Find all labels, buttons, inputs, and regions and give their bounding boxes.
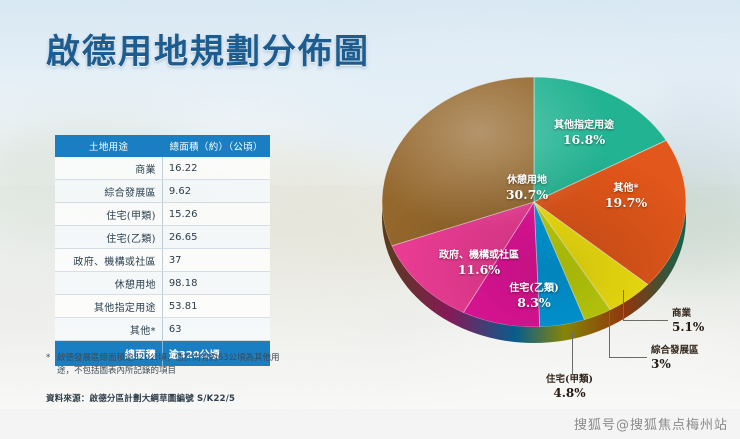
cell-area: 16.22 [162, 157, 270, 180]
cell-area: 37 [162, 249, 270, 272]
table-footnote: * 啟德發展區總面積逾320公頃，估計尚有約63公頃為其他用途，不包括圖表內所記… [46, 352, 296, 378]
table-row: 政府、機構或社區37 [55, 249, 270, 272]
leader-line-cda-v [609, 310, 610, 357]
table-row: 商業16.22 [55, 157, 270, 180]
out-label-commercial: 商業 5.1% [672, 308, 704, 335]
cell-land-use: 政府、機構或社區 [55, 249, 162, 272]
table-header-row: 土地用途 總面積（約）（公頃） [55, 135, 270, 157]
cell-land-use: 休憩用地 [55, 272, 162, 295]
slice-label-other-specified: 其他指定用途 16.8% [524, 120, 644, 147]
cell-area: 15.26 [162, 203, 270, 226]
table-row: 其他指定用途53.81 [55, 295, 270, 318]
table-header-use: 土地用途 [55, 135, 162, 157]
out-label-residential-a: 住宅(甲類) 4.8% [546, 374, 593, 401]
cell-land-use: 其他* [55, 318, 162, 341]
cell-land-use: 商業 [55, 157, 162, 180]
cell-area: 53.81 [162, 295, 270, 318]
cell-area: 63 [162, 318, 270, 341]
page-title: 啟德用地規劃分佈圖 [46, 24, 370, 73]
slice-label-recreation: 休憩用地 30.7% [472, 175, 582, 202]
slice-label-giic: 政府、機構或社區 11.6% [404, 250, 554, 277]
cell-land-use: 住宅(甲類) [55, 203, 162, 226]
leader-line-residential-a-v [572, 332, 573, 374]
out-label-cda: 綜合發展區 3% [651, 345, 699, 372]
table-row: 其他*63 [55, 318, 270, 341]
footer-bar: 搜狐号@搜狐焦点梅州站 [0, 409, 740, 439]
table-row: 綜合發展區9.62 [55, 180, 270, 203]
cell-land-use: 住宅(乙類) [55, 226, 162, 249]
footnote-text: 啟德發展區總面積逾320公頃，估計尚有約63公頃為其他用途，不包括圖表內所記錄的… [46, 352, 296, 378]
leader-line-commercial-v [623, 290, 624, 320]
watermark: 搜狐号@搜狐焦点梅州站 [574, 414, 728, 433]
infographic-canvas: 啟德用地規劃分佈圖 土地用途 總面積（約）（公頃） 商業16.22綜合發展區9.… [0, 0, 740, 439]
table-row: 住宅(甲類)15.26 [55, 203, 270, 226]
cell-area: 98.18 [162, 272, 270, 295]
table-header-area: 總面積（約）（公頃） [162, 135, 270, 157]
source-line: 資料來源：啟德分區計劃大綱草圖編號 S/K22/5 [46, 392, 326, 404]
land-use-table: 土地用途 總面積（約）（公頃） 商業16.22綜合發展區9.62住宅(甲類)15… [55, 135, 270, 366]
table-body: 商業16.22綜合發展區9.62住宅(甲類)15.26住宅(乙類)26.65政府… [55, 157, 270, 366]
pie-chart: 休憩用地 30.7% 其他指定用途 16.8% 其他* 19.7% 政府、機構或… [374, 55, 704, 365]
table-row: 休憩用地98.18 [55, 272, 270, 295]
cell-land-use: 其他指定用途 [55, 295, 162, 318]
table-row: 住宅(乙類)26.65 [55, 226, 270, 249]
cell-area: 9.62 [162, 180, 270, 203]
footnote-star: * [46, 352, 50, 365]
cell-land-use: 綜合發展區 [55, 180, 162, 203]
leader-line-commercial-h [623, 320, 668, 321]
slice-label-residential-b: 住宅(乙類) 8.3% [484, 283, 584, 310]
cell-area: 26.65 [162, 226, 270, 249]
leader-line-cda-h [609, 357, 647, 358]
slice-label-others: 其他* 19.7% [586, 183, 666, 210]
